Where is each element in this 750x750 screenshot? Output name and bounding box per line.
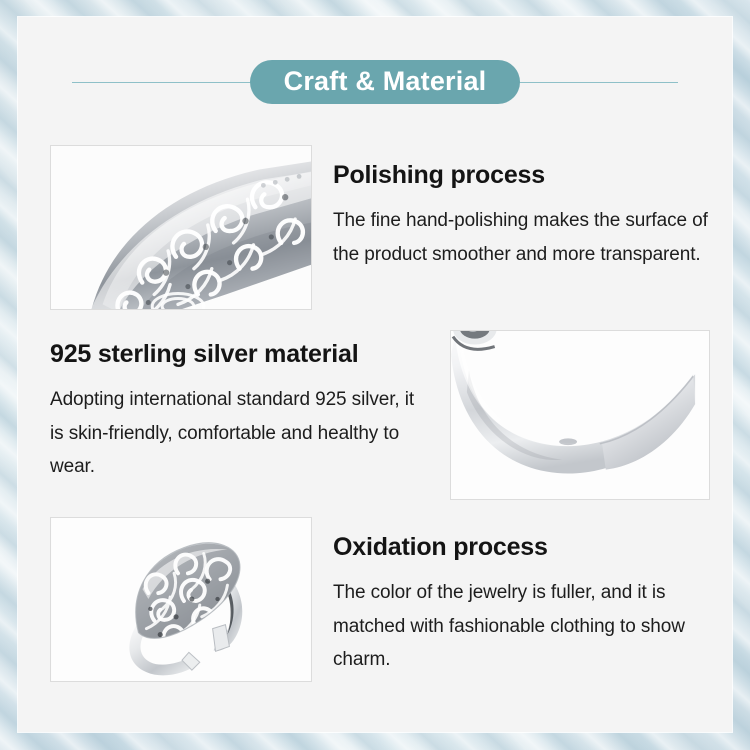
section-material: 925 sterling silver material Adopting in… xyxy=(50,330,710,500)
photo-oxidation xyxy=(50,517,312,682)
heading-polishing: Polishing process xyxy=(333,161,710,190)
page-title: Craft & Material xyxy=(250,60,521,104)
open-cuff-ring-icon xyxy=(51,518,311,681)
infographic-page: Craft & Material xyxy=(0,0,750,750)
body-oxidation: The color of the jewelry is fuller, and … xyxy=(333,576,710,677)
polished-band-macro-icon xyxy=(451,331,709,499)
text-polishing: Polishing process The fine hand-polishin… xyxy=(333,145,710,271)
section-polishing: Polishing process The fine hand-polishin… xyxy=(50,145,710,310)
heading-oxidation: Oxidation process xyxy=(333,533,710,562)
body-material: Adopting international standard 925 silv… xyxy=(50,383,430,484)
heading-material: 925 sterling silver material xyxy=(50,340,430,369)
photo-material xyxy=(450,330,710,500)
filigree-band-macro-icon xyxy=(51,146,311,309)
text-oxidation: Oxidation process The color of the jewel… xyxy=(333,517,710,677)
text-material: 925 sterling silver material Adopting in… xyxy=(50,330,450,484)
header-rule-right xyxy=(510,82,678,83)
section-header: Craft & Material xyxy=(18,60,732,104)
photo-polishing xyxy=(50,145,312,310)
body-polishing: The fine hand-polishing makes the surfac… xyxy=(333,204,710,272)
section-oxidation: Oxidation process The color of the jewel… xyxy=(50,517,710,682)
content-card: Craft & Material xyxy=(18,17,732,732)
header-rule-left xyxy=(72,82,260,83)
